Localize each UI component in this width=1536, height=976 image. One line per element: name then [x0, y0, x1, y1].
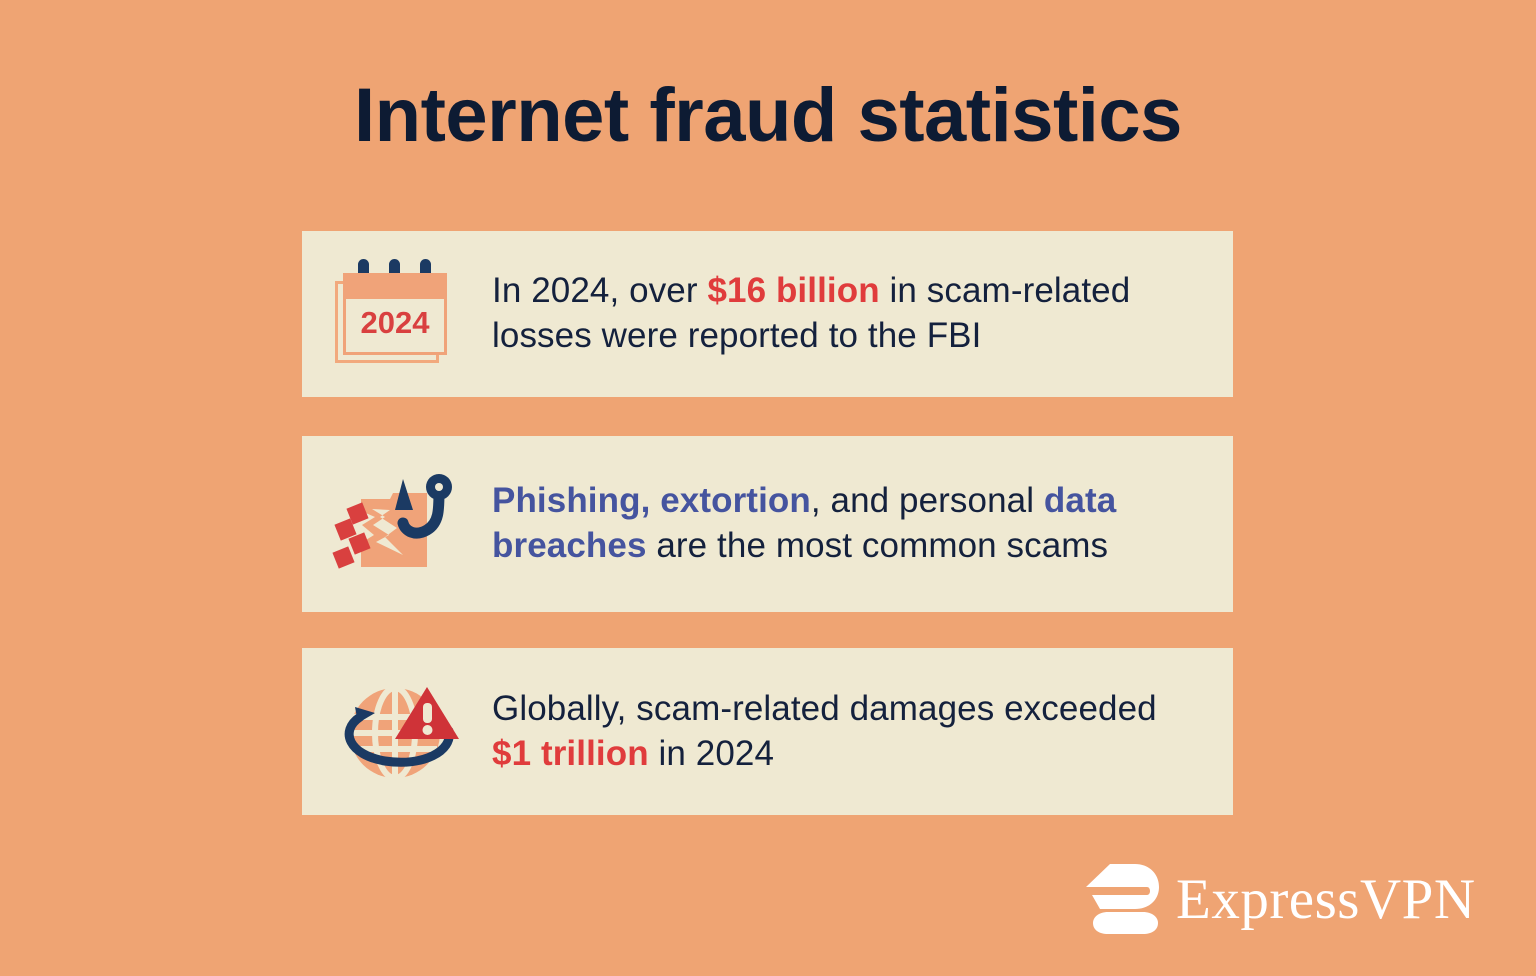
- calendar-year-label: 2024: [343, 305, 447, 341]
- text-segment: in 2024: [649, 734, 774, 773]
- text-segment: In 2024, over: [492, 271, 707, 310]
- stat-card-3: Globally, scam-related damages exceeded …: [302, 648, 1233, 815]
- globe-warning-svg: [327, 673, 467, 791]
- highlight-scam-types: Phishing, extortion: [492, 481, 811, 520]
- page-title: Internet fraud statistics: [0, 78, 1536, 154]
- stat-card-2: Phishing, extortion, and personal data b…: [302, 436, 1233, 612]
- expressvpn-logo: ExpressVPN: [1080, 862, 1476, 936]
- phishing-hook-icon: [302, 459, 492, 589]
- highlight-amount: $1 trillion: [492, 734, 649, 773]
- expressvpn-mark-icon: [1080, 862, 1162, 936]
- stat-card-3-text: Globally, scam-related damages exceeded …: [492, 687, 1233, 777]
- stat-card-1: 2024 In 2024, over $16 billion in scam-r…: [302, 231, 1233, 397]
- text-segment: Globally, scam-related damages exceeded: [492, 689, 1157, 728]
- expressvpn-wordmark: ExpressVPN: [1176, 871, 1476, 928]
- calendar-header-band: [343, 273, 447, 299]
- text-segment: , and personal: [811, 481, 1044, 520]
- highlight-amount: $16 billion: [707, 271, 879, 310]
- phishing-hook-svg: [327, 465, 467, 583]
- calendar-icon: 2024: [302, 249, 492, 379]
- stat-card-1-text: In 2024, over $16 billion in scam-relate…: [492, 269, 1233, 359]
- globe-warning-icon: [302, 667, 492, 797]
- stat-card-2-text: Phishing, extortion, and personal data b…: [492, 479, 1233, 569]
- text-segment: are the most common scams: [647, 526, 1109, 565]
